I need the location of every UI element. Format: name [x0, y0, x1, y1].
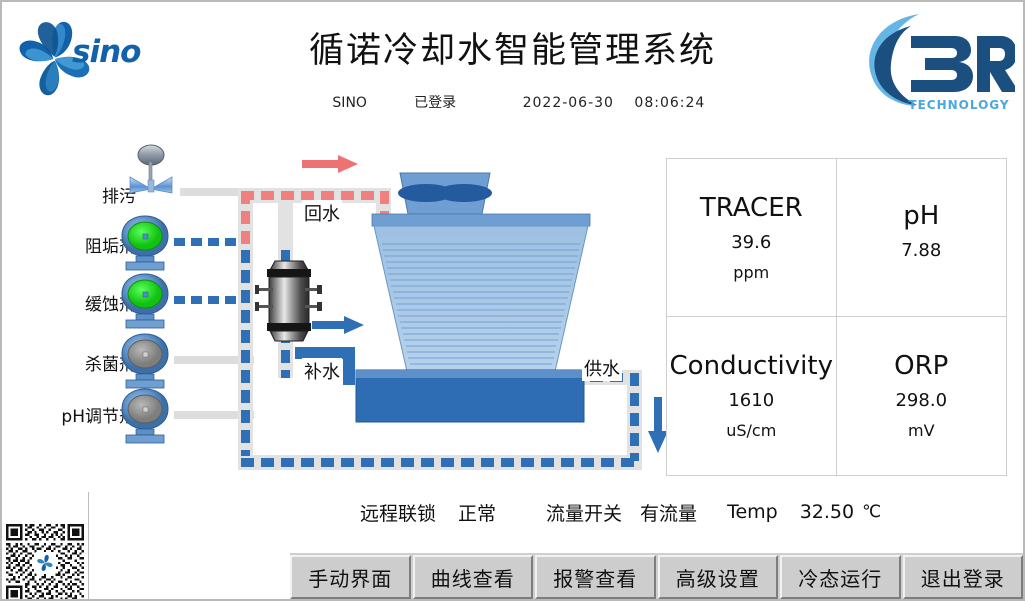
- qr-code[interactable]: [6, 524, 84, 601]
- manual-interface-button[interactable]: 手动界面: [290, 555, 411, 599]
- system-time: 08:06:24: [634, 95, 705, 111]
- flow-switch-value: 有流量: [640, 499, 697, 526]
- loop-pipe-bottom: [241, 458, 639, 467]
- reading-unit: ppm: [733, 265, 769, 281]
- pump-icon[interactable]: [114, 272, 176, 330]
- reading-value: 1610: [728, 392, 774, 410]
- label-makeup-water: 补水: [302, 358, 342, 384]
- 3r-technology-logo: TECHNOLOGY: [859, 6, 1015, 118]
- reading-name: Conductivity: [670, 353, 833, 379]
- login-state: 已登录: [414, 92, 456, 112]
- svg-text:TECHNOLOGY: TECHNOLOGY: [908, 98, 1009, 112]
- reading-cell-tracer[interactable]: TRACER 39.6 ppm: [667, 159, 837, 317]
- advanced-settings-button[interactable]: 高级设置: [658, 555, 779, 599]
- logout-button[interactable]: 退出登录: [903, 555, 1024, 599]
- fan-blade-right: [436, 184, 492, 202]
- loop-pipe-left: [241, 250, 250, 456]
- divider: [88, 492, 89, 601]
- toolbar: 手动界面 曲线查看 报警查看 高级设置 冷态运行 退出登录: [290, 553, 1023, 601]
- sino-flower-icon: [34, 552, 56, 574]
- heat-exchanger[interactable]: [255, 247, 323, 353]
- trend-view-button[interactable]: 曲线查看: [413, 555, 534, 599]
- header: sino 循诺冷却水智能管理系统 SINO 已登录 2022-06-30 08:…: [2, 2, 1023, 120]
- loop-pipe-right: [630, 373, 639, 461]
- flow-switch-label: 流量开关: [546, 499, 622, 526]
- reading-name: ORP: [894, 353, 948, 379]
- reading-cell-conductivity[interactable]: Conductivity 1610 uS/cm: [667, 317, 837, 475]
- remote-interlock-label: 远程联锁: [360, 499, 436, 526]
- return-pipe-left: [241, 191, 250, 253]
- label-return-water: 回水: [302, 200, 342, 226]
- pump-icon[interactable]: [114, 214, 176, 272]
- alarm-view-button[interactable]: 报警查看: [535, 555, 656, 599]
- reading-value: 39.6: [731, 234, 771, 252]
- current-user: SINO: [320, 95, 380, 111]
- temp-value: 32.50: [800, 501, 854, 523]
- application-window: sino 循诺冷却水智能管理系统 SINO 已登录 2022-06-30 08:…: [0, 0, 1025, 601]
- reading-unit: uS/cm: [726, 423, 776, 439]
- system-date: 2022-06-30: [523, 95, 614, 111]
- temp-unit: ℃: [862, 502, 881, 522]
- reading-name: pH: [903, 203, 939, 229]
- readings-panel: TRACER 39.6 ppm pH 7.88 Conductivity 161…: [666, 158, 1007, 476]
- pump-icon[interactable]: [114, 387, 176, 445]
- pump-icon[interactable]: [114, 332, 176, 390]
- cooling-tower[interactable]: [342, 170, 622, 423]
- reading-value: 298.0: [895, 392, 947, 410]
- label-supply-water: 供水: [582, 355, 622, 381]
- reading-name: TRACER: [700, 195, 803, 221]
- temp-label: Temp: [727, 501, 778, 523]
- status-row: 远程联锁 正常 流量开关 有流量 Temp 32.50 ℃: [332, 496, 1022, 528]
- feed-label-blowdown: 排污: [16, 182, 136, 207]
- reading-value: 7.88: [901, 242, 941, 260]
- reading-cell-ph[interactable]: pH 7.88: [837, 159, 1007, 317]
- remote-interlock-value: 正常: [458, 499, 496, 526]
- valve-icon[interactable]: [120, 144, 182, 199]
- reading-unit: mV: [908, 423, 935, 439]
- reading-cell-orp[interactable]: ORP 298.0 mV: [837, 317, 1007, 475]
- cold-start-run-button[interactable]: 冷态运行: [780, 555, 901, 599]
